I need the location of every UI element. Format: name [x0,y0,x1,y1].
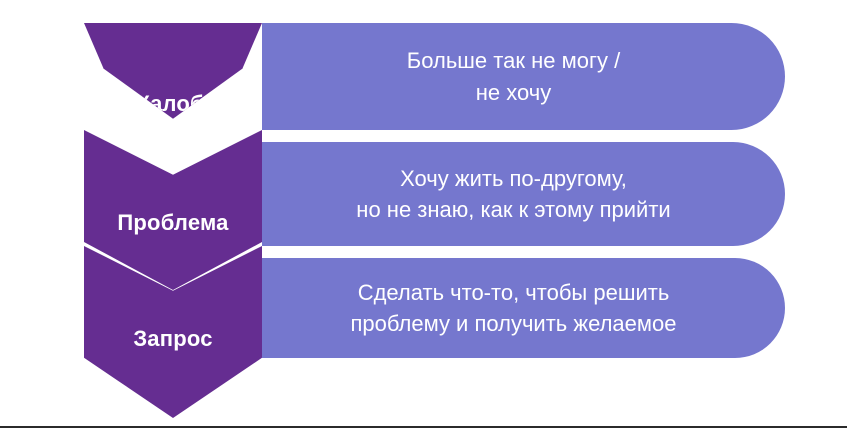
step-panel-1[interactable]: Больше так не могу / не хочу [262,23,785,130]
step-panel-3[interactable]: Сделать что-то, чтобы решить проблему и … [262,258,785,358]
step-label-2: Проблема [84,210,262,236]
step-text-1: Больше так не могу / не хочу [407,45,620,107]
step-label-1: Жалоба [84,91,262,117]
bottom-divider [0,426,847,428]
slide-canvas: Жалоба Больше так не могу / не хочу Проб… [0,0,847,431]
step-text-3: Сделать что-то, чтобы решить проблему и … [351,277,677,339]
step-text-2: Хочу жить по-другому, но не знаю, как к … [356,163,670,225]
step-label-3: Запрос [84,326,262,352]
step-panel-2[interactable]: Хочу жить по-другому, но не знаю, как к … [262,142,785,246]
